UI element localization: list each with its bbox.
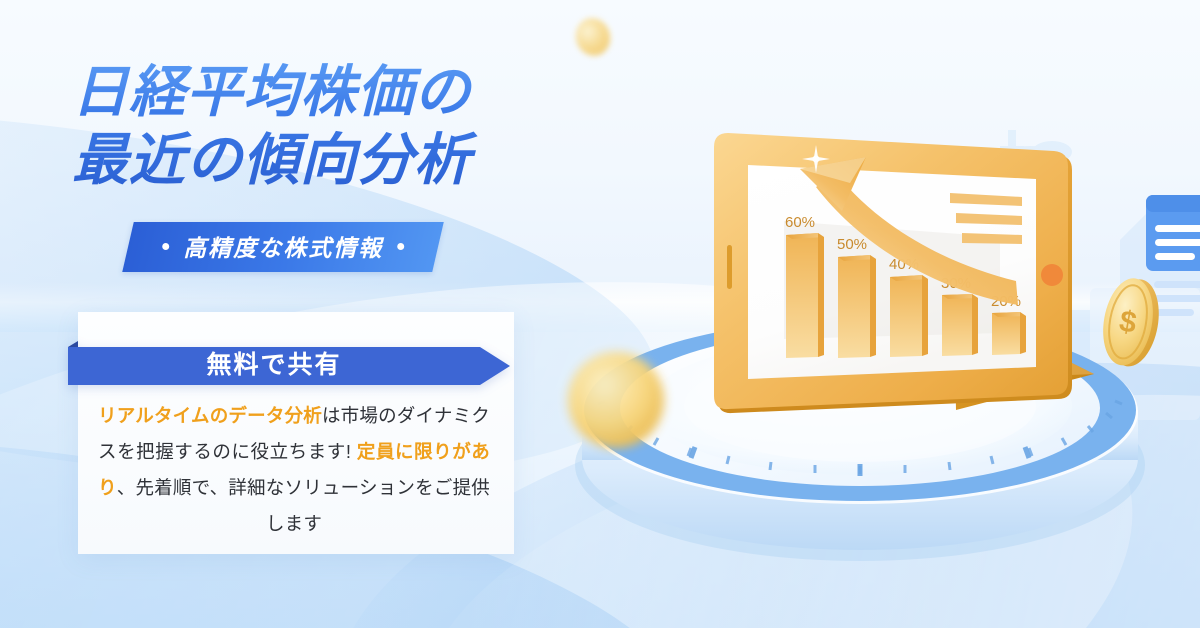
tablet-device: 60% 50% 40% 30% 20% — [700, 133, 1090, 428]
card-body-highlight-1: リアルタイムのデータ分析 — [98, 405, 322, 426]
bar-label-1: 50% — [837, 236, 867, 253]
badge-right-dot-icon — [397, 243, 404, 250]
illustration: 60% 50% 40% 30% 20% — [560, 0, 1200, 628]
subtitle-badge: 高精度な株式情報 — [122, 222, 444, 272]
card-body-plain-2: 、先着順で、詳細なソリューションをご提供します — [117, 477, 490, 534]
badge-left-dot-icon — [162, 243, 169, 250]
tablet-side-button — [727, 245, 732, 289]
bar-label-0: 60% — [785, 214, 815, 231]
subtitle-badge-wrap: 高精度な株式情報 — [128, 222, 438, 272]
hero-banner: 60% 50% 40% 30% 20% — [0, 0, 1200, 628]
tablet-home-button — [1041, 264, 1063, 286]
badge-label: 高精度な株式情報 — [183, 229, 383, 263]
ribbon-banner — [68, 341, 510, 385]
coin-dollar-right-icon: $ — [1094, 272, 1164, 372]
coin-blurred-left-icon — [568, 352, 664, 448]
coin-floating-top-icon — [571, 14, 615, 61]
page-title: 日経平均株価の 最近の傾向分析 — [72, 58, 592, 195]
card-body-text: リアルタイムのデータ分析は市場のダイナミクスを把握するのに役立ちます! 定員に限… — [98, 398, 490, 542]
